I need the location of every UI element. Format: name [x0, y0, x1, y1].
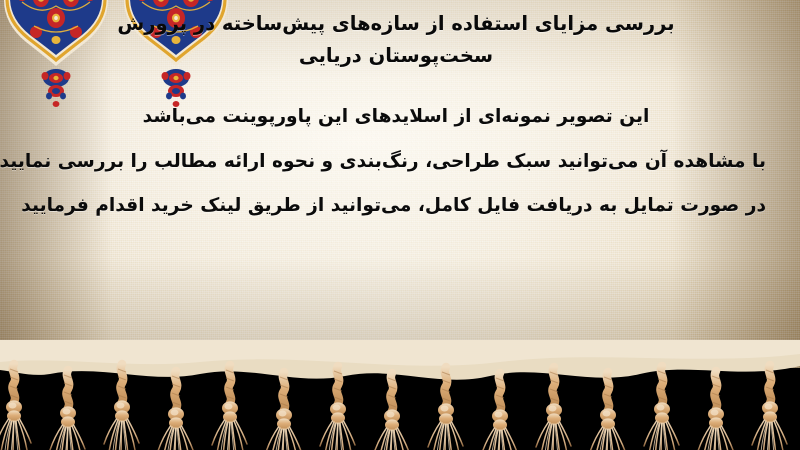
tassel-row: [0, 364, 787, 450]
knotted-tassel-fringe-icon: [0, 340, 800, 450]
slide-canvas: بررسی مزایای استفاده از سازه‌های پیش‌ساخ…: [0, 0, 800, 450]
body-line-1: این تصویر نمونه‌ای از اسلایدهای این پاور…: [26, 108, 766, 127]
body-line-2: با مشاهده آن می‌توانید سبک طراحی، رنگ‌بن…: [26, 153, 766, 172]
title-line-1: بررسی مزایای استفاده از سازه‌های پیش‌ساخ…: [117, 12, 674, 35]
page-title: بررسی مزایای استفاده از سازه‌های پیش‌ساخ…: [40, 8, 752, 71]
body-text-block: این تصویر نمونه‌ای از اسلایدهای این پاور…: [26, 108, 766, 216]
bottom-fringe: [0, 340, 800, 450]
body-line-3: در صورت تمایل به دریافت فایل کامل، می‌تو…: [26, 197, 766, 216]
title-line-2: سخت‌پوستان دریایی: [299, 44, 493, 67]
